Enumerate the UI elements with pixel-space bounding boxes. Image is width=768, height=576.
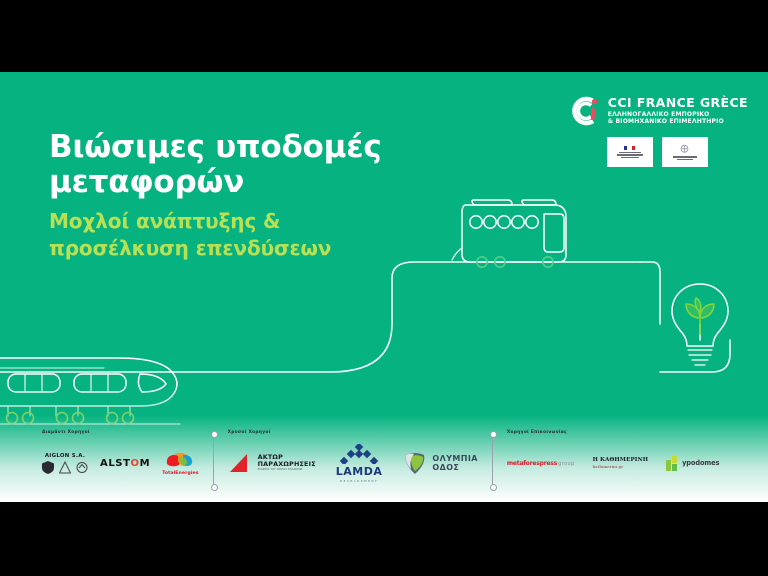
alstom-dot: O: [131, 458, 140, 469]
headline-line-2: μεταφορών: [49, 165, 382, 200]
olympia-odos-logo: ΟΛΥΜΠΙΑ ΟΔΟΣ: [402, 450, 477, 476]
lamda-development-logo: LAMDA DEVELOPMENT: [336, 444, 383, 483]
slide-headline: Βιώσιμες υποδομές μεταφορών Μοχλοί ανάπτ…: [49, 130, 382, 260]
letterbox-bar-top: [0, 0, 768, 72]
presentation-slide: Βιώσιμες υποδομές μεταφορών Μοχλοί ανάπτ…: [0, 72, 768, 502]
letterbox-bar-bottom: [0, 502, 768, 576]
sponsor-divider-1: [213, 434, 214, 488]
ypodomes-logo: ypodomes: [666, 456, 719, 471]
sponsor-strip: Διαμάντι Χορηγοί AIGLON S.A. ALSTOM: [0, 424, 768, 502]
sponsor-tier-diamond: Διαμάντι Χορηγοί AIGLON S.A. ALSTOM: [42, 424, 199, 502]
organizer-subtitle-2: & ΒΙΟΜΗΧΑΝΙΚΟ ΕΠΙΜΕΛΗΤΗΡΙΟ: [608, 119, 748, 125]
tier-label-diamond: Διαμάντι Χορηγοί: [42, 430, 199, 435]
kathimerini-line-1: Η ΚΑΘΗΜΕΡΙΝΗ: [593, 457, 648, 463]
sponsor-tier-gold: Χρυσοί Χορηγοί ΑΚΤΩΡ ΠΑΡΑΧΩΡΗΣΕΙΣ ΕΤΑΙΡΕ…: [228, 424, 478, 502]
aiglon-name: AIGLON S.A.: [45, 453, 85, 459]
aktor-paraxoriseis-logo: ΑΚΤΩΡ ΠΑΡΑΧΩΡΗΣΕΙΣ ΕΤΑΙΡΕΙΑ ΤΟΥ ΟΜΙΛΟΥ Ε…: [228, 453, 316, 473]
metaforespress-name: metaforespress: [507, 460, 557, 467]
olympia-line-1: ΟΛΥΜΠΙΑ: [432, 454, 477, 463]
sponsor-tier-media: Χορηγοί Επικοινωνίας metaforespress grou…: [507, 424, 720, 502]
tier-label-gold: Χρυσοί Χορηγοί: [228, 430, 478, 435]
alstom-logo: ALSTOM: [100, 458, 150, 469]
tier-label-media: Χορηγοί Επικοινωνίας: [507, 430, 720, 435]
metaforespress-logo: metaforespress group: [507, 460, 575, 467]
sponsor-divider-2: [492, 434, 493, 488]
headline-line-1: Βιώσιμες υποδομές: [49, 130, 382, 165]
aktor-line-2: ΠΑΡΑΧΩΡΗΣΕΙΣ: [258, 461, 316, 468]
metaforespress-sub: group: [558, 461, 575, 467]
organizer-logo-block: CCI FRANCE GRÈCE ΕΛΛΗΝΟΓΑΛΛΙΚΟ ΕΜΠΟΡΙΚΟ …: [567, 94, 748, 167]
kathimerini-logo: Η ΚΑΘΗΜΕΡΙΝΗ kathimerini.gr: [593, 457, 648, 469]
subheadline-line-2: προσέλκυση επενδύσεων: [49, 236, 382, 260]
totalenergies-logo: TotalEnergies: [162, 451, 198, 476]
train-wheels: [7, 413, 134, 424]
alstom-text-1: ALST: [100, 458, 131, 469]
subheadline-line-1: Μοχλοί ανάπτυξης &: [49, 209, 382, 233]
institution-badges: [567, 137, 748, 167]
ypodomes-name: ypodomes: [682, 459, 719, 467]
olympia-line-2: ΟΔΟΣ: [432, 463, 477, 472]
institution-crest-badge: [662, 137, 708, 167]
organizer-name: CCI FRANCE GRÈCE: [608, 97, 748, 110]
train-illustration: [0, 358, 180, 424]
bus-illustration: [452, 200, 566, 262]
totalenergies-name: TotalEnergies: [162, 471, 198, 476]
sprout-icon: [686, 298, 714, 334]
aiglon-logo: AIGLON S.A.: [42, 453, 88, 474]
slide-frame: Βιώσιμες υποδομές μεταφορών Μοχλοί ανάπτ…: [0, 0, 768, 576]
french-republic-badge: [607, 137, 653, 167]
kathimerini-line-2: kathimerini.gr: [593, 464, 624, 469]
alstom-text-2: M: [140, 458, 151, 469]
cci-monogram-icon: [567, 94, 601, 128]
aktor-line-3: ΕΤΑΙΡΕΙΑ ΤΟΥ ΟΜΙΛΟΥ ΕΛΛΑΚΤΩΡ: [258, 469, 316, 472]
lamda-name: LAMDA: [336, 465, 383, 478]
lamda-sub: DEVELOPMENT: [340, 479, 379, 483]
